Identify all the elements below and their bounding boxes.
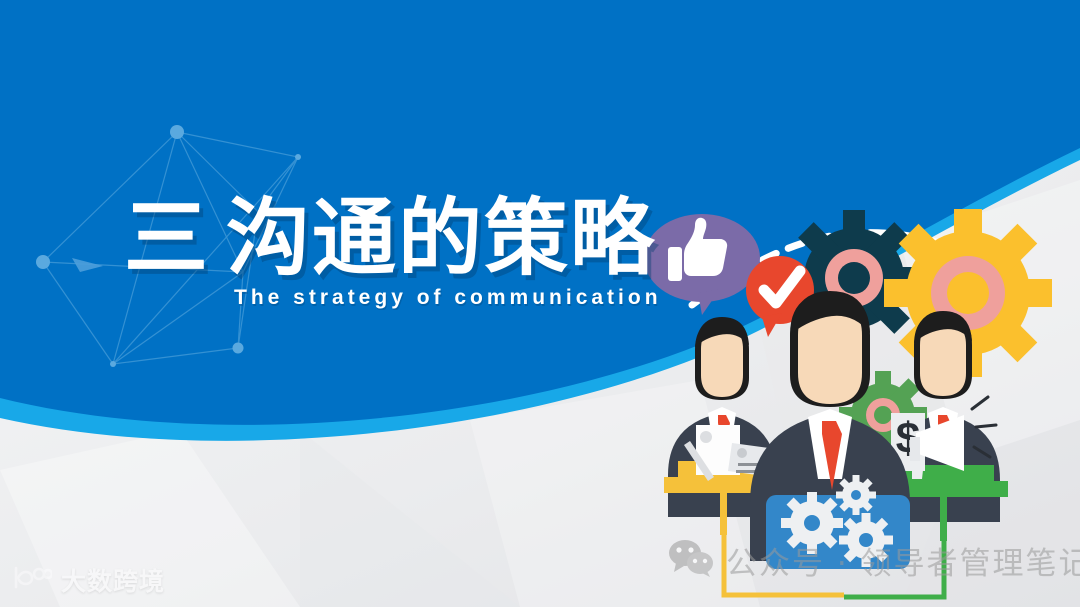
- page-title: 三沟通的策略: [124, 196, 662, 280]
- presentation-slide: 三沟通的策略 The strategy of communication: [0, 0, 1080, 607]
- brand-text: 大数跨境: [61, 562, 165, 598]
- brand-logo: 大数跨境: [12, 562, 165, 598]
- section-number: 三: [124, 189, 208, 287]
- title-text: 沟通的策略: [226, 189, 656, 287]
- dashu-logo-icon: [12, 565, 52, 596]
- wechat-watermark: 公众号 · 领导者管理笔记: [668, 538, 1080, 583]
- page-subtitle: The strategy of communication: [234, 286, 662, 310]
- wechat-icon: [668, 539, 714, 582]
- watermark-text: 公众号 · 领导者管理笔记: [726, 538, 1080, 583]
- title-block: 三沟通的策略 The strategy of communication: [124, 196, 662, 310]
- communication-illustration: $: [640, 185, 1080, 560]
